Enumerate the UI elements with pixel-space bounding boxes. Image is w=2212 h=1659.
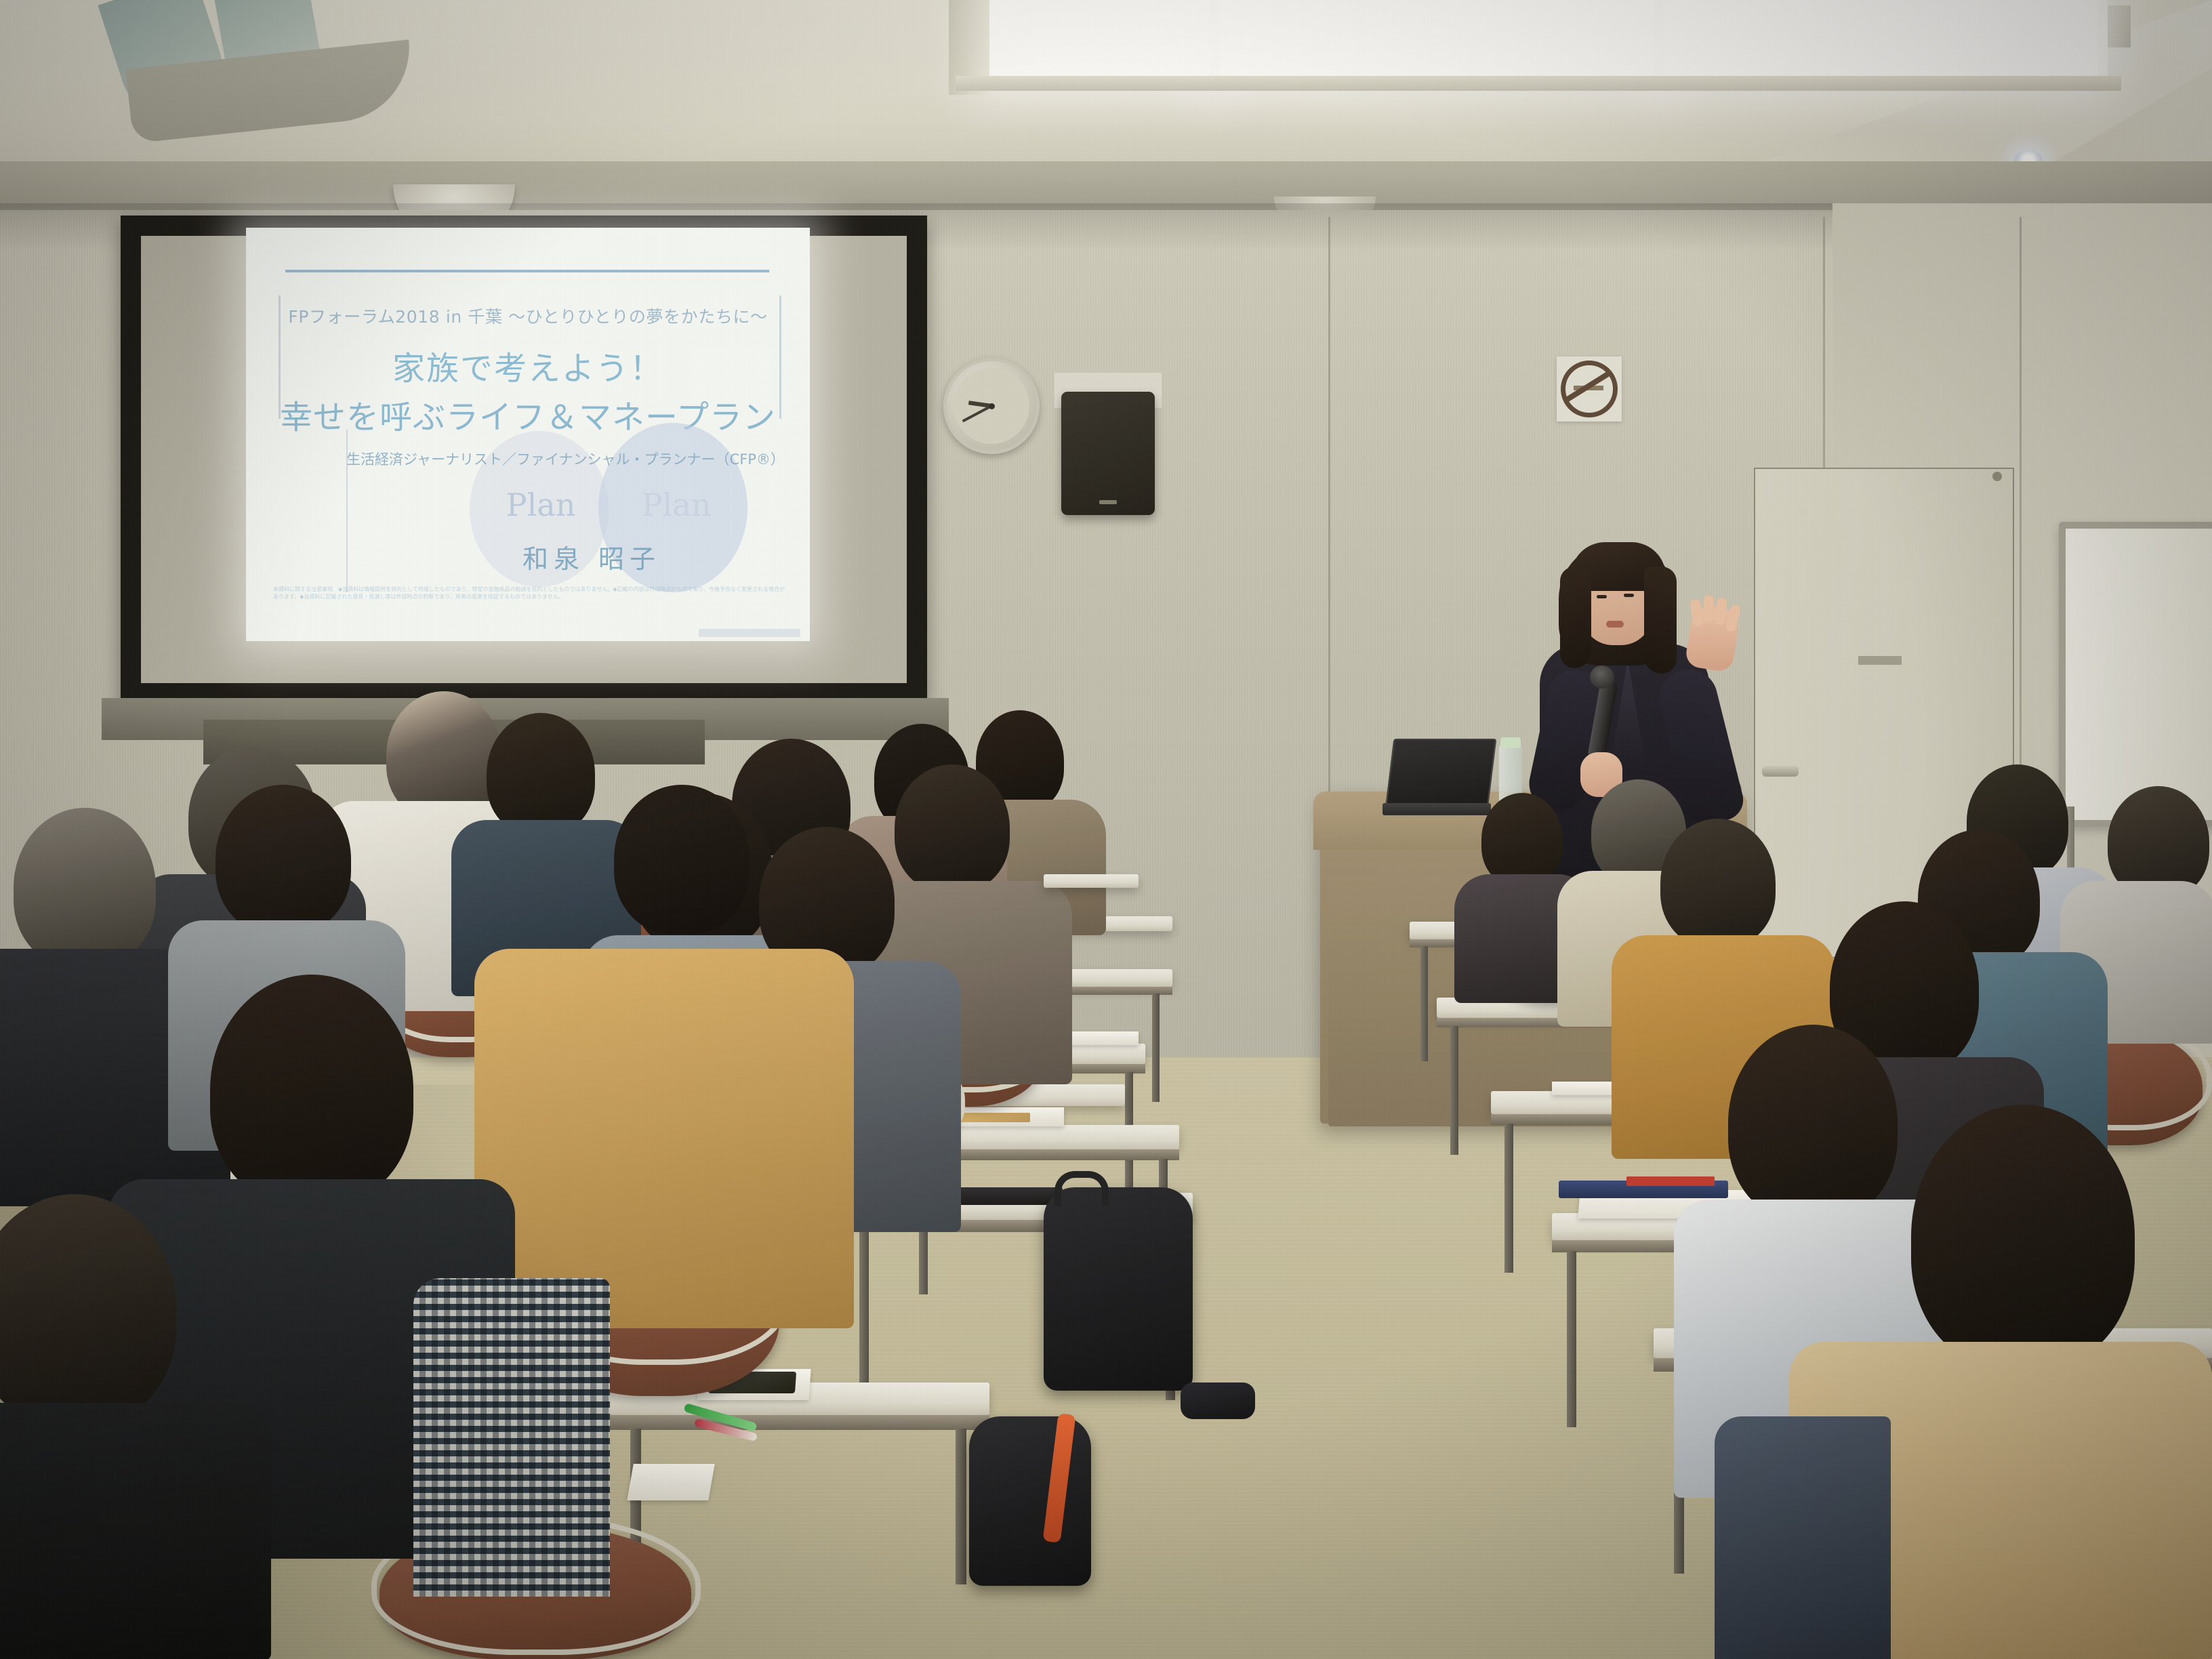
- attendee-head: [216, 785, 351, 934]
- ceiling-light-panel: [986, 0, 1210, 76]
- desk-leg: [956, 1429, 966, 1584]
- attendee-head: [487, 713, 595, 835]
- desk-leg: [1420, 946, 1428, 1061]
- clock-center-pin: [989, 403, 995, 409]
- no-smoking-sign: [1557, 356, 1622, 422]
- attendee-head: [1660, 819, 1776, 947]
- presenter-mouth: [1606, 621, 1624, 628]
- laptop-screen[interactable]: [1385, 739, 1497, 809]
- presenter-eye: [1597, 595, 1607, 598]
- handout-paper: [627, 1464, 715, 1500]
- projection-screen: FPフォーラム2018 in 千葉 ～ひとりひとりの夢をかたちに～ 家族で考えよ…: [121, 216, 927, 703]
- no-smoking-icon: [1561, 361, 1618, 417]
- door-sign: [1858, 656, 1902, 665]
- attendee-head: [210, 975, 413, 1205]
- black-backpack: [1044, 1187, 1193, 1391]
- projected-slide: FPフォーラム2018 in 千葉 ～ひとりひとりの夢をかたちに～ 家族で考えよ…: [246, 228, 810, 641]
- cove-lip: [956, 76, 2121, 91]
- attendee-torso-camel-jacket: [474, 949, 854, 1328]
- laptop-keyboard[interactable]: [1382, 803, 1491, 815]
- slide-credentials: 生活経済ジャーナリスト／ファイナンシャル・プランナー（CFP®）: [346, 449, 780, 469]
- presenter-finger: [1704, 595, 1714, 622]
- attendee-head: [614, 785, 750, 934]
- slide-page-indicator: [699, 629, 800, 637]
- wall-speaker: [1061, 392, 1155, 515]
- desk: [1044, 874, 1139, 888]
- attendee-head: [1911, 1105, 2135, 1369]
- presenter-hair-side: [1560, 567, 1591, 668]
- attendee-head-grey: [14, 808, 156, 967]
- red-bookmark: [1626, 1176, 1715, 1186]
- backpack-handle: [1054, 1171, 1109, 1206]
- wall-clock: [943, 358, 1040, 454]
- ceiling-light-panel: [1220, 0, 1654, 76]
- seminar-room-photo: FPフォーラム2018 in 千葉 ～ひとりひとりの夢をかたちに～ 家族で考えよ…: [0, 0, 2212, 1659]
- attendee-sleeve: [1715, 1416, 1891, 1659]
- attendee-head: [1728, 1025, 1898, 1221]
- slide-speaker-name: 和泉 昭子: [449, 538, 734, 575]
- attendee-head: [895, 764, 1010, 892]
- desk-leg: [1567, 1251, 1576, 1427]
- slide-top-rule: [285, 270, 769, 272]
- speaker-logo: [1099, 500, 1117, 504]
- desk-leg: [1504, 1124, 1513, 1273]
- bottle-cap: [1500, 737, 1521, 748]
- slide-heading-1: 家族で考えよう！: [279, 342, 777, 389]
- desk-leg: [859, 1231, 869, 1393]
- bag-base: [1181, 1382, 1255, 1419]
- shoulder-bag: [969, 1416, 1091, 1586]
- attendee-plaid-sleeve: [413, 1278, 610, 1597]
- whiteboard: [2059, 522, 2212, 827]
- door-hinge: [1992, 472, 2002, 481]
- presenter-eye: [1624, 594, 1634, 597]
- presenter-hair-side: [1644, 567, 1677, 674]
- slide-footnote: 本資料に関する注意事項 ◆当資料は情報提供を目的として作成したものであり、特定の…: [273, 586, 788, 623]
- desk-leg: [1450, 1026, 1458, 1155]
- desk-edge: [610, 1415, 989, 1430]
- spacer: [725, 759, 752, 786]
- ceiling-light-panel: [1664, 0, 2097, 76]
- desk-leg: [1152, 994, 1160, 1102]
- attendee-torso: [0, 1403, 271, 1659]
- door-handle[interactable]: [1762, 766, 1799, 777]
- attendee-head: [1481, 793, 1563, 886]
- slide-kicker-text: FPフォーラム2018 in 千葉 ～ひとりひとりの夢をかたちに～: [279, 304, 777, 328]
